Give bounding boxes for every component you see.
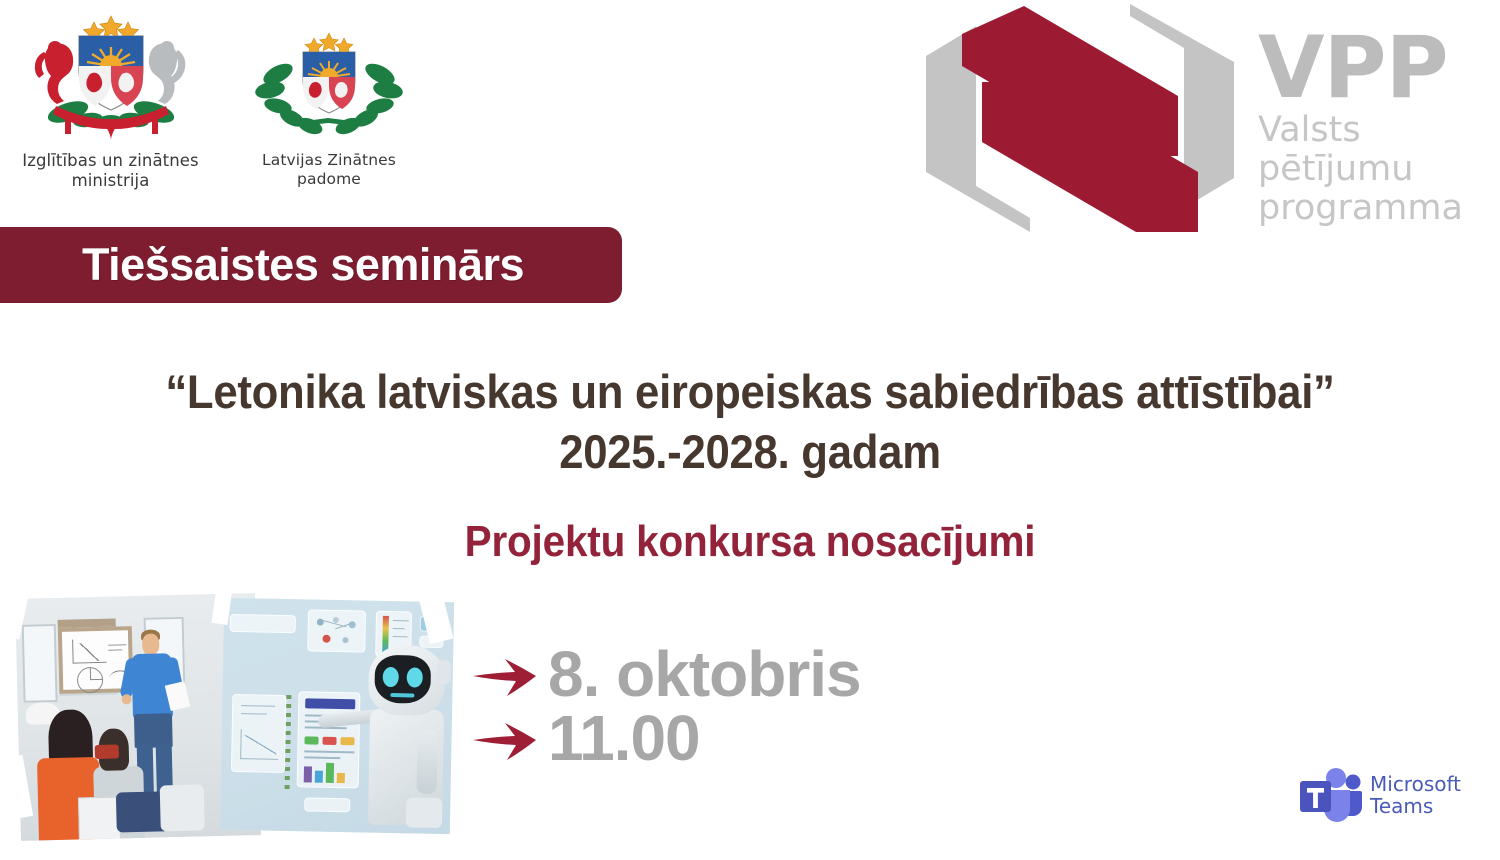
vpp-wordmark: VPP Valsts pētījumu programma	[1258, 28, 1490, 228]
emblem-lzp-caption: Latvijas Zinātnes padome	[240, 151, 418, 188]
latvia-small-arms-oak-icon	[240, 26, 418, 142]
arrow-right-icon	[470, 715, 544, 761]
event-time-value: 11.00	[548, 706, 700, 770]
seminar-banner: Tiešsaistes seminārs	[0, 227, 622, 303]
vpp-n-mark-icon	[910, 4, 1250, 234]
robot-dashboard-photo	[220, 598, 454, 834]
page-title-line2: 2025.-2028. gadam	[53, 422, 1448, 482]
microsoft-teams-wordmark: Microsoft Teams	[1370, 774, 1461, 817]
microsoft-teams-icon	[1298, 767, 1362, 825]
emblem-row: Izglītības un zinātnes ministrija	[0, 0, 440, 200]
page-title: “Letonika latviskas un eiropeiskas sabie…	[53, 362, 1448, 482]
vpp-logo: VPP Valsts pētījumu programma	[910, 4, 1490, 234]
page-subtitle: Projektu konkursa nosacījumi	[60, 517, 1440, 567]
emblem-izm: Izglītības un zinātnes ministrija	[8, 8, 213, 191]
vpp-abbr: VPP	[1258, 28, 1490, 109]
arrow-right-icon	[470, 651, 544, 697]
emblem-izm-caption: Izglītības un zinātnes ministrija	[8, 151, 213, 191]
banner-label: Tiešsaistes seminārs	[82, 239, 524, 291]
page-title-line1: “Letonika latviskas un eiropeiskas sabie…	[165, 365, 1334, 418]
slide-canvas: Izglītības un zinātnes ministrija	[0, 0, 1500, 860]
event-detail-row-date: 8. oktobris	[470, 642, 861, 706]
event-date-value: 8. oktobris	[548, 642, 861, 706]
event-detail-row-time: 11.00	[470, 706, 700, 770]
vpp-sub: Valsts pētījumu programma	[1258, 111, 1490, 229]
microsoft-teams-logo: Microsoft Teams	[1298, 762, 1478, 830]
emblem-lzp: Latvijas Zinātnes padome	[240, 26, 418, 188]
photo-collage	[0, 588, 452, 846]
event-details: 8. oktobris 11.00	[470, 642, 990, 792]
latvia-coat-of-arms-full-icon	[8, 8, 213, 140]
